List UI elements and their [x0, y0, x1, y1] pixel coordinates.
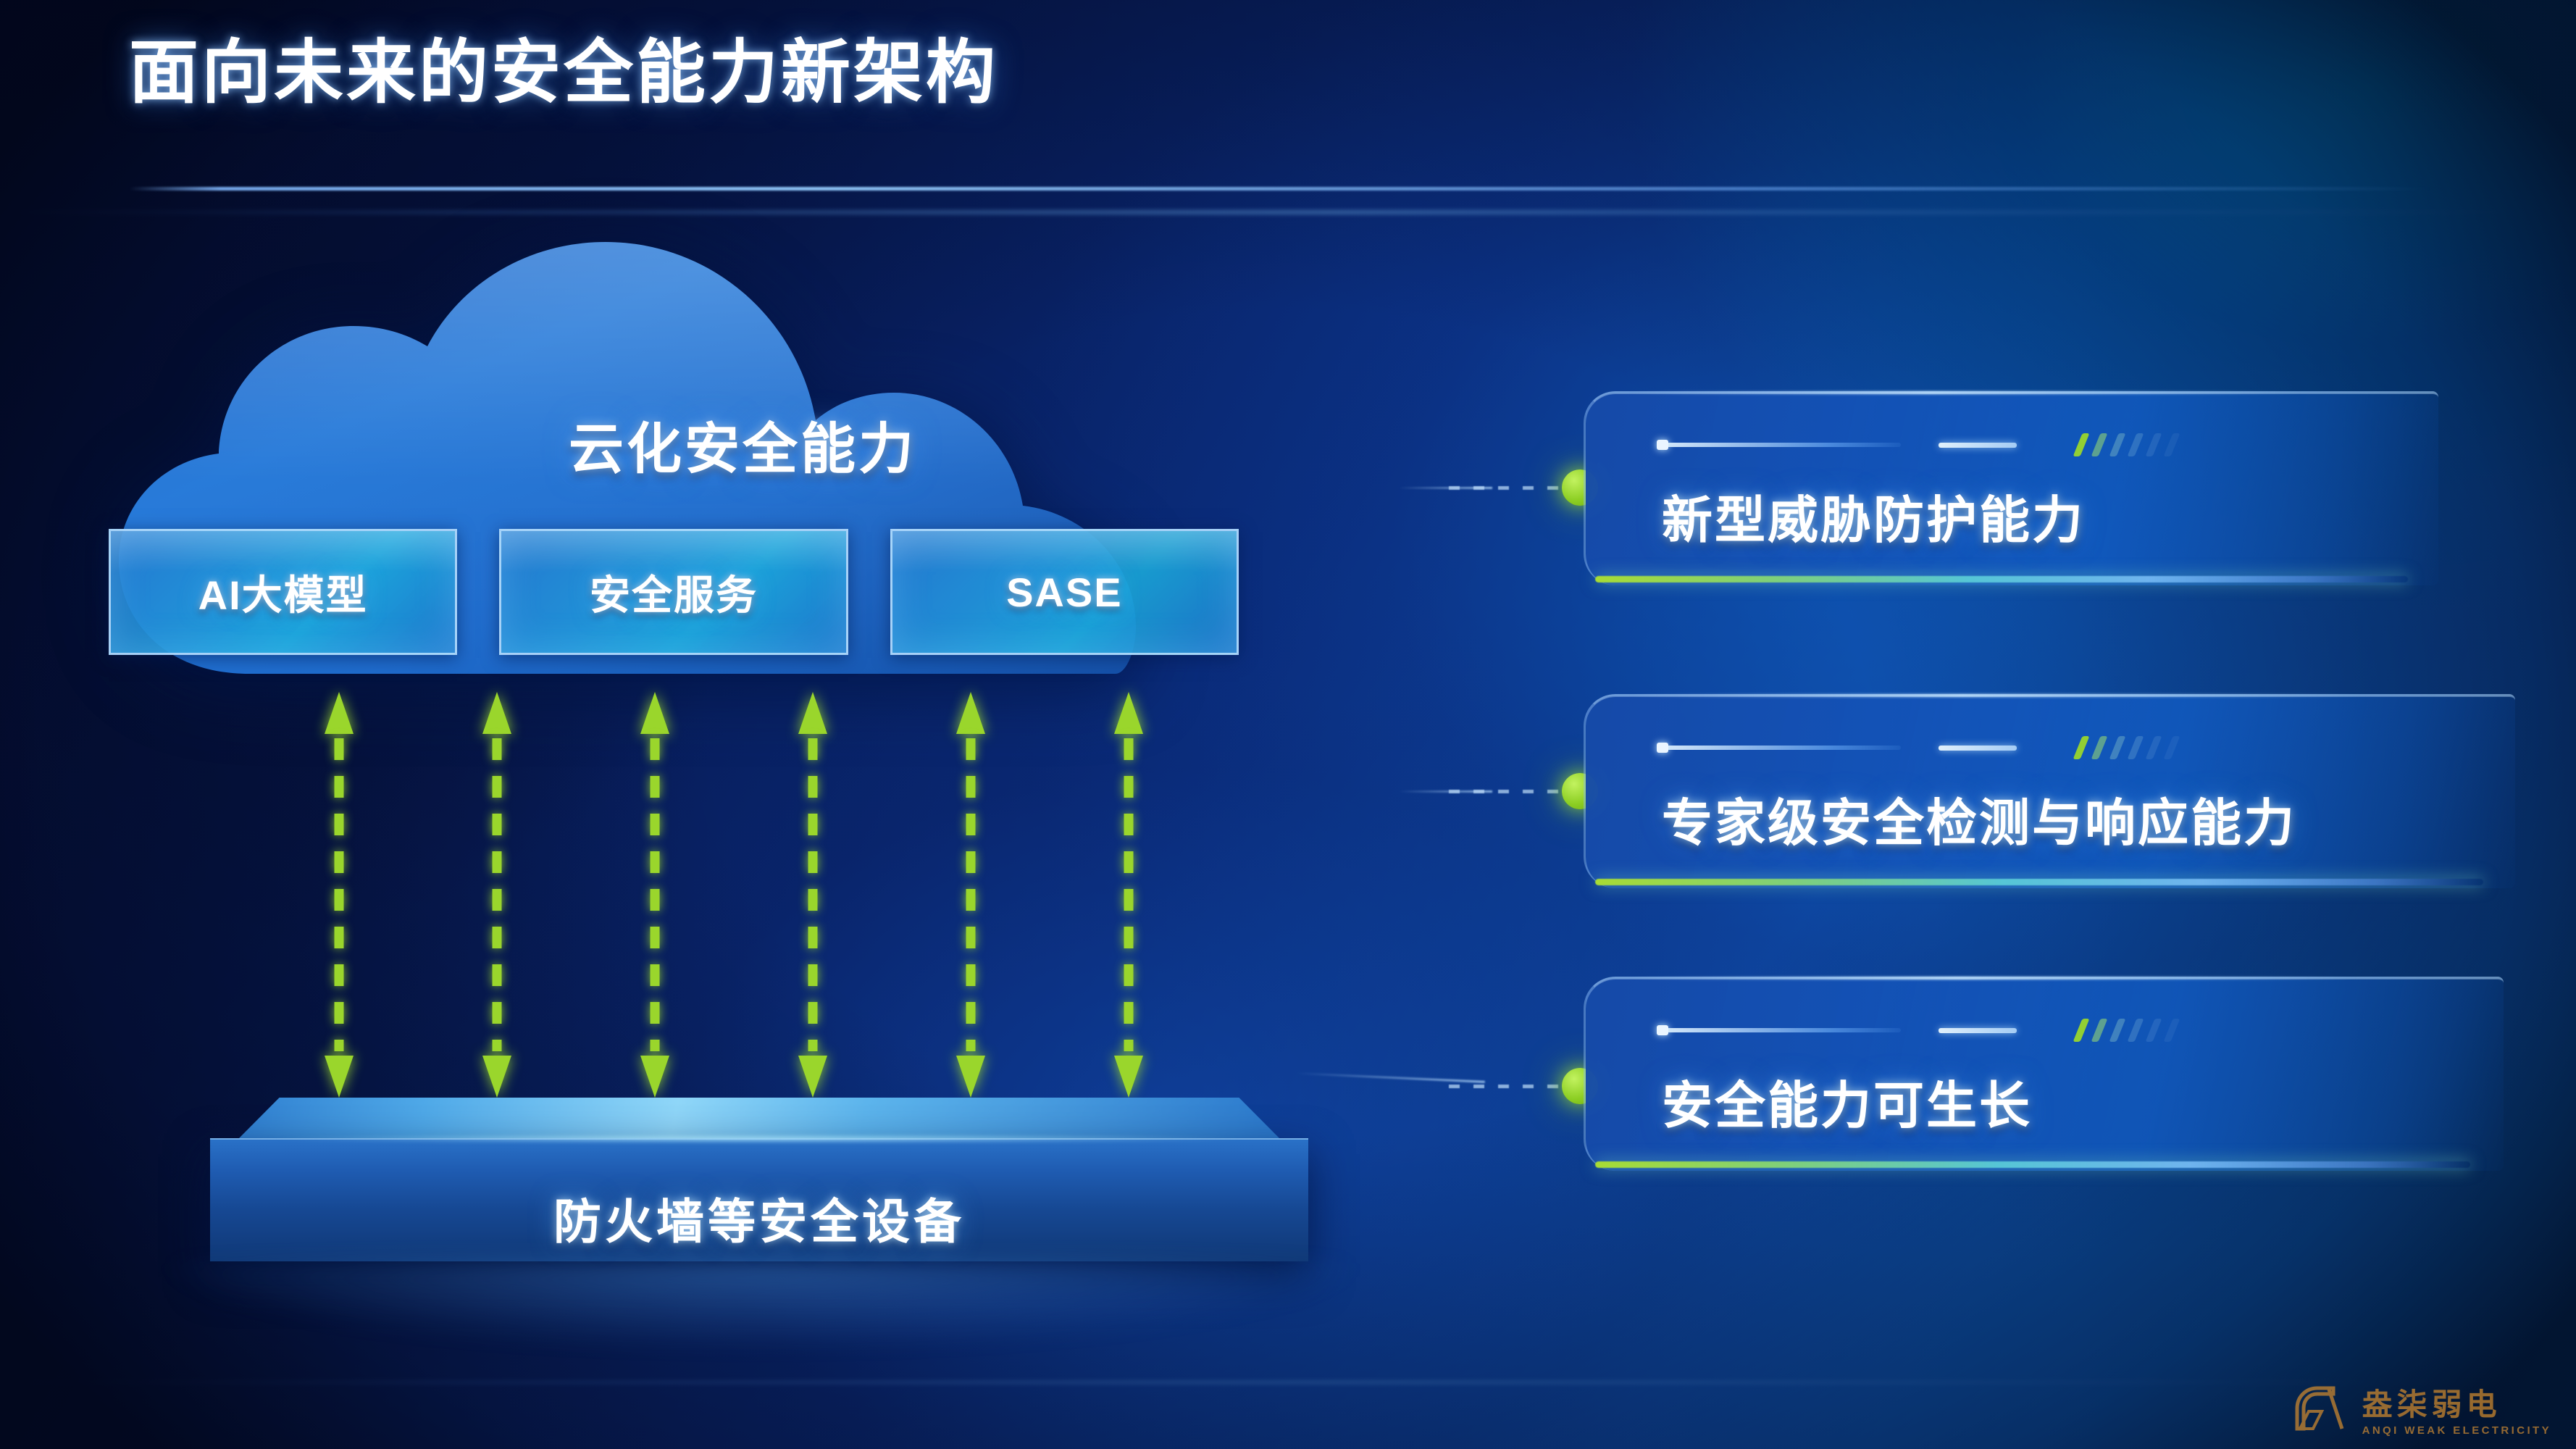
bidirectional-arrow-icon — [961, 692, 980, 1098]
title-underline-rule — [129, 187, 2433, 191]
capability-card-3[interactable]: 安全能力可生长 — [1584, 977, 2504, 1171]
bidirectional-arrow-icon — [645, 692, 664, 1098]
cloud-shape-group: 云化安全能力 AI大模型 安全服务 SASE — [94, 239, 1391, 703]
deco-line-icon — [1662, 443, 1901, 447]
capability-label: AI大模型 — [198, 563, 368, 622]
bidirectional-arrow-icon — [803, 692, 822, 1098]
watermark-logo-icon — [2288, 1378, 2351, 1436]
card-underline — [1595, 879, 2483, 885]
card-label: 专家级安全检测与响应能力 — [1662, 782, 2296, 856]
platform-label: 防火墙等安全设备 — [210, 1183, 1308, 1253]
card-label: 新型威胁防护能力 — [1662, 480, 2085, 553]
page-title: 面向未来的安全能力新架构 — [129, 35, 998, 112]
bidirectional-arrow-icon — [1119, 692, 1138, 1098]
deco-ticks-icon — [2078, 433, 2175, 456]
deco-line-icon — [1662, 746, 1901, 750]
watermark: 盎柒弱电 ANQI WEAK ELECTRICITY — [2288, 1378, 2551, 1436]
deco-dash-icon — [1939, 443, 2017, 448]
deco-ticks-icon — [2078, 1019, 2175, 1042]
card-underline — [1595, 576, 2408, 582]
capability-card-2[interactable]: 专家级安全检测与响应能力 — [1584, 694, 2515, 888]
watermark-text-block: 盎柒弱电 ANQI WEAK ELECTRICITY — [2362, 1390, 2551, 1436]
deco-line-icon — [1662, 1028, 1901, 1032]
card-decoration-3 — [1662, 1019, 2175, 1042]
deco-ticks-icon — [2078, 736, 2175, 759]
capability-box-sase[interactable]: SASE — [890, 529, 1239, 655]
connector-line-1 — [1449, 486, 1579, 490]
bidirectional-arrow-icon — [330, 692, 348, 1098]
watermark-cn: 盎柒弱电 — [2362, 1390, 2551, 1420]
card-decoration-1 — [1662, 433, 2175, 456]
connector-line-2 — [1449, 790, 1579, 793]
slide-canvas: 面向未来的安全能力新架构 云化安全能力 — [0, 0, 2576, 1449]
card-decoration-2 — [1662, 736, 2175, 759]
capability-label: 安全服务 — [590, 563, 758, 622]
capability-box-ai[interactable]: AI大模型 — [109, 529, 457, 655]
cloud-title: 云化安全能力 — [94, 404, 1391, 484]
deco-dash-icon — [1939, 1028, 2017, 1033]
capability-label: SASE — [1006, 569, 1123, 616]
device-platform-group: 防火墙等安全设备 — [210, 1098, 1318, 1358]
platform-floor-glow — [167, 1261, 1355, 1348]
card-underline — [1595, 1161, 2470, 1168]
watermark-en: ANQI WEAK ELECTRICITY — [2362, 1425, 2551, 1436]
capability-box-row: AI大模型 安全服务 SASE — [109, 529, 1239, 655]
card-label: 安全能力可生长 — [1662, 1065, 2032, 1138]
connector-line-3 — [1449, 1085, 1579, 1088]
platform-top-surface — [238, 1098, 1281, 1140]
bidirectional-arrow-group — [330, 692, 1192, 1098]
slide-title-block: 面向未来的安全能力新架构 — [129, 35, 998, 112]
capability-card-1[interactable]: 新型威胁防护能力 — [1584, 391, 2438, 585]
deco-dash-icon — [1939, 746, 2017, 751]
capability-box-security-service[interactable]: 安全服务 — [499, 529, 848, 655]
bidirectional-arrow-icon — [488, 692, 506, 1098]
